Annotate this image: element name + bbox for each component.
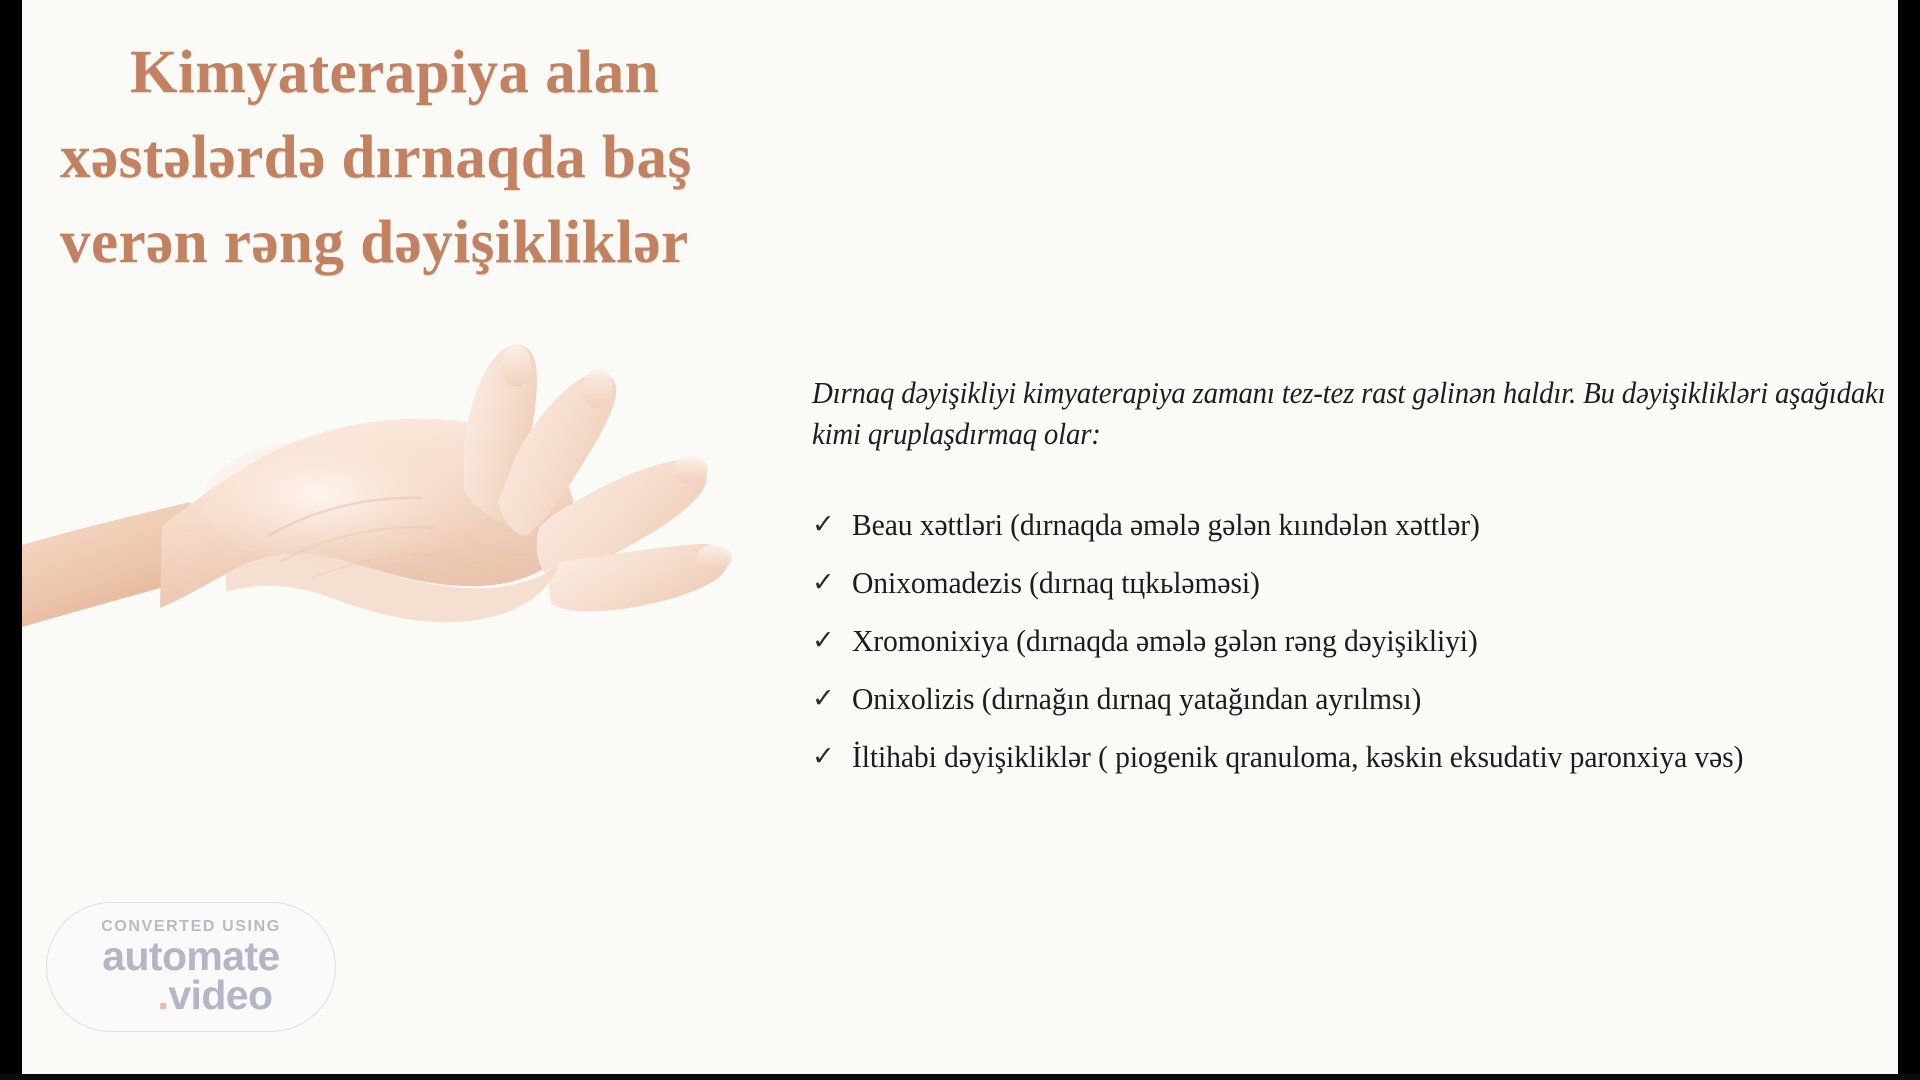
list-item: ✓ İltihabi dəyişikliklər ( piogenik qran…	[812, 736, 1898, 777]
hand-photo	[22, 330, 802, 750]
list-item: ✓ Onixomadezis (dırnaq tцkьləməsi)	[812, 562, 1898, 603]
watermark-badge: CONVERTED USING automate .video	[46, 902, 336, 1032]
bullet-list: ✓ Beau xəttləri (dırnaqda əmələ gələn kı…	[812, 504, 1898, 777]
letterbox-bar-bottom	[0, 1074, 1920, 1080]
presentation-slide: Kimyaterapiya alan xəstələrdə dırnaqda b…	[22, 0, 1898, 1074]
video-player-frame: Kimyaterapiya alan xəstələrdə dırnaqda b…	[0, 0, 1920, 1080]
hand-illustration	[22, 330, 802, 750]
slide-title-line-2: xəstələrdə dırnaqda baş	[52, 115, 1012, 200]
intro-paragraph: Dırnaq dəyişikliyi kimyaterapiya zamanı …	[812, 372, 1898, 454]
list-item-label: Xromonixiya (dırnaqda əmələ gələn rəng d…	[852, 620, 1855, 661]
check-icon: ✓	[812, 620, 852, 661]
list-item: ✓ Onixolizis (dırnağın dırnaq yatağından…	[812, 678, 1898, 719]
list-item-label: Beau xəttləri (dırnaqda əmələ gələn kıın…	[852, 504, 1855, 545]
list-item: ✓ Xromonixiya (dırnaqda əmələ gələn rəng…	[812, 620, 1898, 661]
watermark-suffix: .video	[158, 974, 273, 1016]
check-icon: ✓	[812, 562, 852, 603]
check-icon: ✓	[812, 504, 852, 545]
slide-body-content: Dırnaq dəyişikliyi kimyaterapiya zamanı …	[812, 372, 1898, 794]
list-item-label: Onixomadezis (dırnaq tцkьləməsi)	[852, 562, 1855, 603]
watermark-suffix-label: video	[168, 972, 272, 1018]
slide-title-line-1: Kimyaterapiya alan	[52, 30, 1012, 115]
check-icon: ✓	[812, 736, 852, 777]
letterbox-bar-right	[1898, 0, 1920, 1080]
slide-title: Kimyaterapiya alan xəstələrdə dırnaqda b…	[52, 30, 1012, 285]
watermark-dot: .	[158, 972, 169, 1018]
slide-title-line-3: verən rəng dəyişikliklər	[52, 200, 1012, 285]
check-icon: ✓	[812, 678, 852, 719]
list-item-label: İltihabi dəyişikliklər ( piogenik qranul…	[852, 736, 1855, 777]
letterbox-bar-left	[0, 0, 22, 1080]
list-item-label: Onixolizis (dırnağın dırnaq yatağından a…	[852, 678, 1855, 719]
list-item: ✓ Beau xəttləri (dırnaqda əmələ gələn kı…	[812, 504, 1898, 545]
